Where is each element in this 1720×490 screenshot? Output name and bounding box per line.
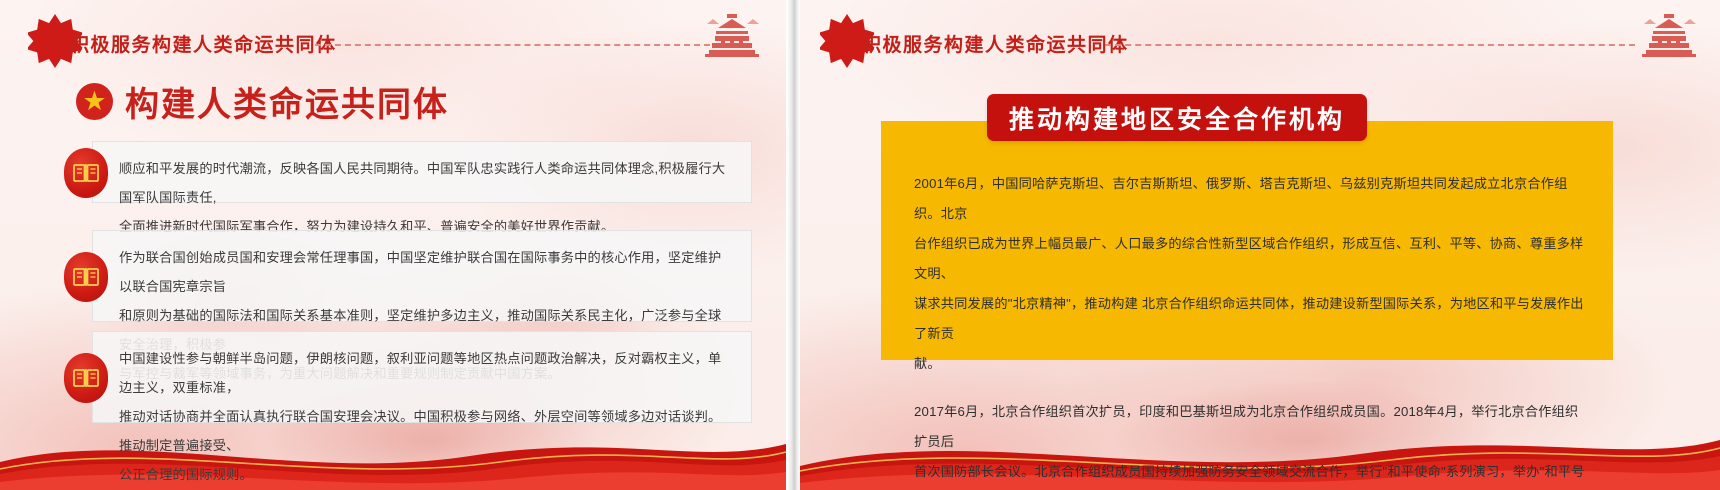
paragraph-2-line-2: 首次国防部长会议。北京合作组织成员国持续加强防务安全领域交流合作，举行"和平使命… (914, 457, 1585, 490)
chinese-architecture-emblem-icon (703, 10, 761, 58)
open-book-icon-1 (64, 148, 108, 198)
open-book-icon-2 (64, 252, 108, 302)
section-banner: 推动构建地区安全合作机构 (987, 94, 1367, 141)
content-box-2-line-1: 作为联合国创始成员国和安理会常任理事国，中国坚定维护联合国在国际事务中的核心作用… (119, 243, 733, 301)
slide-divider (787, 0, 800, 490)
open-book-glyph (73, 267, 99, 287)
paragraph-spacer (914, 379, 1585, 397)
slide-left-title: ★ 构建人类命运共同体 (76, 77, 449, 126)
highlight-panel: 2001年6月，中国同哈萨克斯坦、吉尔吉斯斯坦、俄罗斯、塔吉克斯坦、乌兹别克斯坦… (881, 121, 1613, 360)
slide-left-header-label: 积极服务构建人类命运共同体 (70, 30, 337, 57)
page-title: 构建人类命运共同体 (125, 77, 449, 126)
paragraph-1-line-2: 台作组织已成为世界上幅员最广、人口最多的综合性新型区域合作组织，形成互信、互利、… (914, 229, 1585, 289)
chinese-architecture-emblem-icon (1640, 10, 1698, 58)
content-box-1-line-1: 顺应和平发展的时代潮流，反映各国人民共同期待。中国军队忠实践行人类命运共同体理念… (119, 154, 733, 212)
content-box-1: 顺应和平发展的时代潮流，反映各国人民共同期待。中国军队忠实践行人类命运共同体理念… (92, 141, 752, 203)
content-box-3-line-3: 公正合理的国际规则。 (119, 460, 733, 489)
open-book-icon-3 (64, 353, 108, 403)
header-dashed-rule (315, 44, 710, 46)
open-book-glyph (73, 368, 99, 388)
section-banner-label: 推动构建地区安全合作机构 (1009, 100, 1345, 136)
content-box-3-line-1: 中国建设性参与朝鲜半岛问题，伊朗核问题，叙利亚问题等地区热点问题政治解决，反对霸… (119, 344, 733, 402)
presentation-stage: 积极服务构建人类命运共同体 ★ 构建人类命运共同体 (0, 0, 1720, 490)
paragraph-1-line-1: 2001年6月，中国同哈萨克斯坦、吉尔吉斯斯坦、俄罗斯、塔吉克斯坦、乌兹别克斯坦… (914, 169, 1585, 229)
header-dashed-rule (1105, 44, 1635, 46)
yellow-star-in-red-circle-icon: ★ (76, 83, 113, 120)
paragraph-1-line-3: 谋求共同发展的"北京精神"，推动构建 北京合作组织命运共同体，推动建设新型国际关… (914, 289, 1585, 349)
slide-right: 积极服务构建人类命运共同体 2001年6月，中国同哈萨克斯坦、吉尔 (800, 0, 1720, 490)
content-box-3: 中国建设性参与朝鲜半岛问题，伊朗核问题，叙利亚问题等地区热点问题政治解决，反对霸… (92, 331, 752, 423)
slide-left-header: 积极服务构建人类命运共同体 (0, 0, 786, 72)
slide-right-header: 积极服务构建人类命运共同体 (800, 0, 1720, 72)
content-box-3-line-2: 推动对话协商并全面认真执行联合国安理会决议。中国积极参与网络、外层空间等领域多边… (119, 402, 733, 460)
open-book-glyph (73, 163, 99, 183)
slide-right-header-label: 积极服务构建人类命运共同体 (862, 30, 1129, 57)
paragraph-1-line-4: 献。 (914, 349, 1585, 379)
content-box-2: 作为联合国创始成员国和安理会常任理事国，中国坚定维护联合国在国际事务中的核心作用… (92, 230, 752, 322)
slide-left: 积极服务构建人类命运共同体 ★ 构建人类命运共同体 (0, 0, 786, 490)
paragraph-2-line-1: 2017年6月，北京合作组织首次扩员，印度和巴基斯坦成为北京合作组织成员国。20… (914, 397, 1585, 457)
